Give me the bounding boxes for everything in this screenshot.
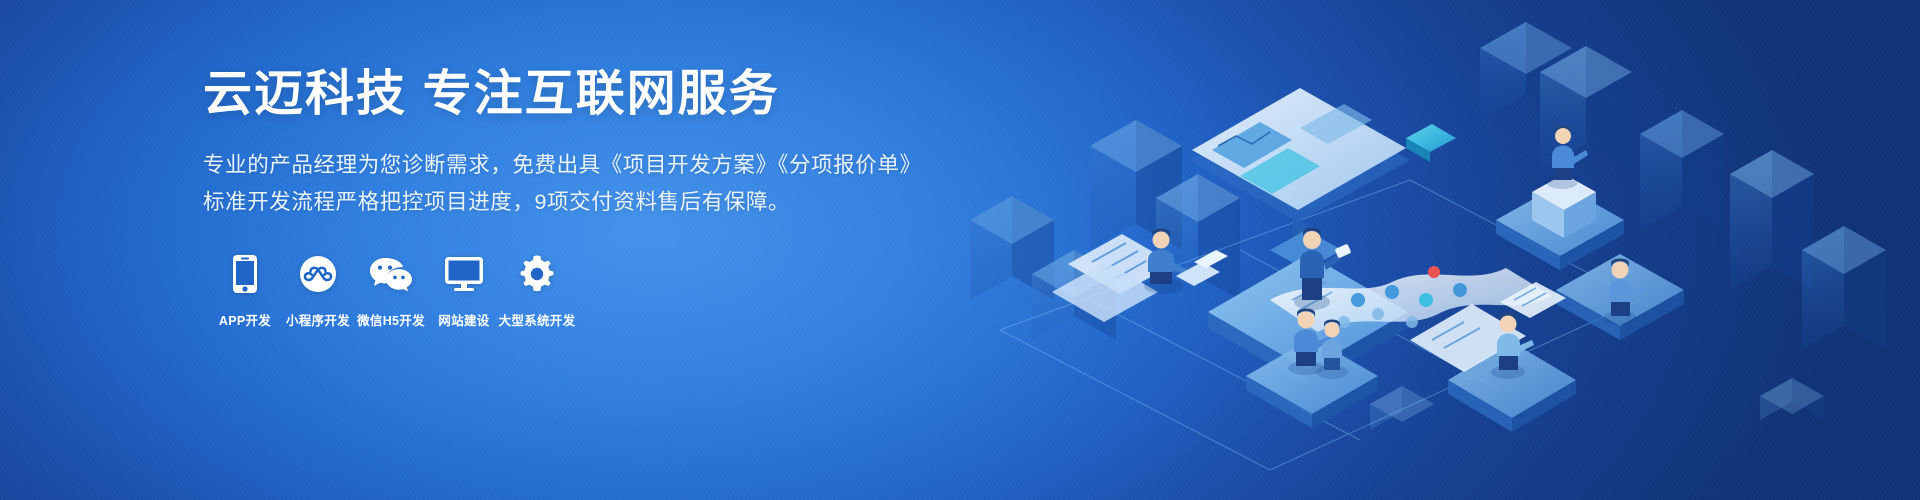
service-label: 小程序开发 bbox=[286, 310, 350, 329]
service-label: 微信H5开发 bbox=[357, 310, 425, 329]
background-buildings bbox=[970, 22, 1886, 430]
subtitle-line-2: 标准开发流程严格把控项目进度，9项交付资料售后有保障。 bbox=[203, 184, 923, 221]
service-list: APP开发 小程序开发 bbox=[209, 251, 923, 329]
gear-icon bbox=[517, 251, 557, 297]
banner-content: 云迈科技 专注互联网服务 专业的产品经理为您诊断需求，免费出具《项目开发方案》《… bbox=[203, 66, 923, 329]
mini-program-icon bbox=[299, 251, 337, 297]
banner-subtitle: 专业的产品经理为您诊断需求，免费出具《项目开发方案》《分项报价单》 标准开发流程… bbox=[203, 147, 923, 221]
service-label: APP开发 bbox=[219, 310, 271, 329]
service-label: 大型系统开发 bbox=[499, 310, 576, 329]
promo-banner: 云迈科技 专注互联网服务 专业的产品经理为您诊断需求，免费出具《项目开发方案》《… bbox=[0, 0, 1920, 500]
service-item-app[interactable]: APP开发 bbox=[209, 251, 281, 329]
mobile-phone-icon bbox=[231, 251, 259, 297]
service-item-wechat-h5[interactable]: 微信H5开发 bbox=[355, 251, 427, 329]
marker-badge bbox=[1406, 124, 1456, 162]
service-item-mini-program[interactable]: 小程序开发 bbox=[282, 251, 354, 329]
isometric-illustration bbox=[940, 0, 1920, 500]
service-item-website[interactable]: 网站建设 bbox=[428, 251, 500, 329]
subtitle-line-1: 专业的产品经理为您诊断需求，免费出具《项目开发方案》《分项报价单》 bbox=[203, 147, 923, 184]
monitor-icon bbox=[444, 251, 484, 297]
page-title: 云迈科技 专注互联网服务 bbox=[203, 66, 923, 123]
service-item-large-system[interactable]: 大型系统开发 bbox=[501, 251, 573, 329]
wechat-icon bbox=[369, 251, 413, 297]
front-platforms bbox=[1246, 338, 1576, 432]
service-label: 网站建设 bbox=[438, 310, 489, 329]
